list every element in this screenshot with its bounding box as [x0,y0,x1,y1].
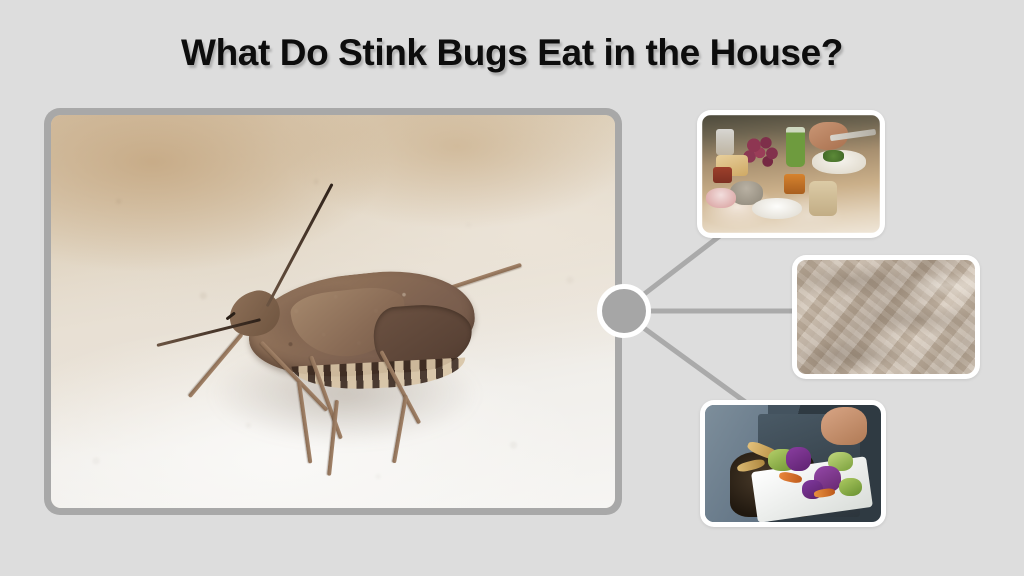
thumbnail-knit-fabric[interactable] [792,255,980,379]
stink-bug-photo [51,115,615,508]
green-juice-glass [786,127,806,167]
thumbnail-food-scraps-image [705,405,881,522]
main-image-frame [44,108,622,515]
hub-node [597,284,651,338]
white-plate [752,198,802,219]
red-jar [713,167,733,184]
knit-fabric-scene [797,260,975,374]
compost-bin-scene [705,405,881,522]
bug-antenna-lower-tip [226,311,237,320]
lettuce-scrap-3 [839,478,862,497]
tan-cup [809,181,837,216]
infographic-stage: What Do Stink Bugs Eat in the House? [0,0,1024,576]
page-title: What Do Stink Bugs Eat in the House? [0,32,1024,74]
thumbnail-food-scraps[interactable] [700,400,886,527]
pink-bowl [706,188,736,208]
stink-bug [198,217,514,437]
drinking-glass [716,129,734,155]
thumbnail-knit-fabric-image [797,260,975,374]
greens-garnish [823,150,844,162]
thumbnail-food-table[interactable] [697,110,885,238]
person-hand [821,407,867,444]
purple-cabbage-1 [786,447,811,470]
amber-jar [784,174,805,194]
thumbnail-food-table-image [702,115,880,233]
